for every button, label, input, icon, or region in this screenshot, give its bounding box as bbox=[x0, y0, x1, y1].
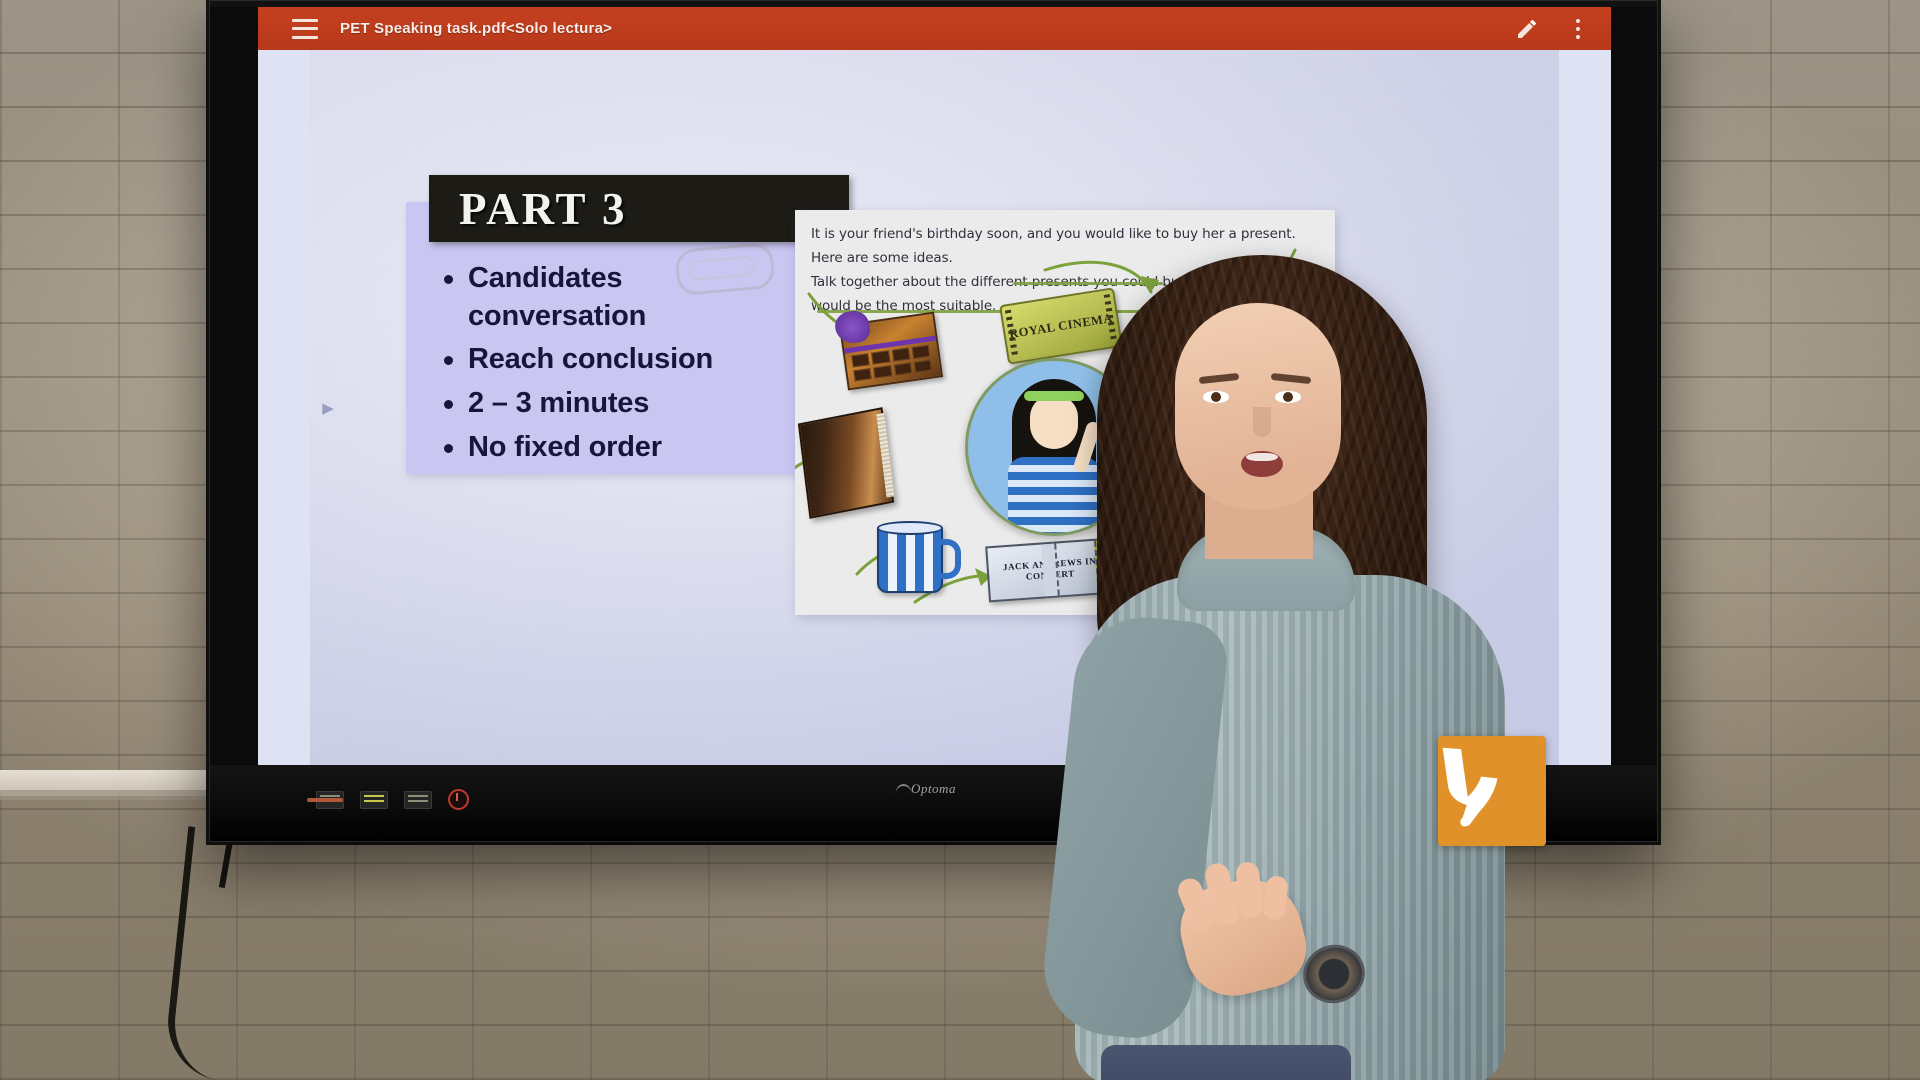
source-button[interactable] bbox=[316, 791, 344, 809]
bullet-list: Candidates conversation Reach conclusion… bbox=[438, 260, 798, 472]
app-title-bar: PET Speaking task.pdf<Solo lectura> bbox=[258, 7, 1611, 50]
display-controls bbox=[316, 789, 469, 810]
menu-button[interactable] bbox=[360, 791, 388, 809]
eyebrow bbox=[1271, 373, 1312, 384]
mug-image bbox=[877, 525, 943, 593]
book-image bbox=[798, 407, 894, 519]
list-item: 2 – 3 minutes bbox=[438, 385, 798, 423]
eye bbox=[1275, 391, 1301, 403]
finger bbox=[1262, 875, 1288, 921]
hamburger-icon[interactable] bbox=[292, 19, 318, 39]
task-line: It is your friend's birthday soon, and y… bbox=[811, 222, 1316, 246]
two-hands-logo bbox=[1438, 736, 1546, 846]
page-title: PART 3 bbox=[429, 175, 849, 242]
power-button[interactable] bbox=[448, 789, 469, 810]
chocolates-image bbox=[839, 312, 943, 391]
document-title: PET Speaking task.pdf<Solo lectura> bbox=[340, 20, 612, 37]
eyebrow bbox=[1199, 373, 1240, 384]
titlebar-actions bbox=[1515, 16, 1597, 42]
eye bbox=[1203, 391, 1229, 403]
display-brand: Optoma bbox=[911, 781, 956, 797]
nose bbox=[1253, 407, 1271, 437]
part-title-text: PART 3 bbox=[459, 183, 628, 235]
mouth bbox=[1241, 451, 1283, 477]
presenter bbox=[1035, 245, 1595, 1080]
chevron-right-icon[interactable]: ▶ bbox=[318, 395, 338, 421]
chocolates-grid bbox=[851, 345, 932, 382]
input-button[interactable] bbox=[404, 791, 432, 809]
jeans bbox=[1101, 1045, 1351, 1080]
skirting-board-shadow bbox=[0, 790, 215, 800]
list-item: No fixed order bbox=[438, 429, 798, 467]
room-scene: PET Speaking task.pdf<Solo lectura> ▶ bbox=[0, 0, 1920, 1080]
pencil-icon[interactable] bbox=[1515, 17, 1539, 41]
two-hands-logo-icon bbox=[1438, 736, 1546, 846]
kebab-menu-icon[interactable] bbox=[1573, 16, 1583, 42]
list-item: Candidates conversation bbox=[438, 260, 798, 335]
list-item: Reach conclusion bbox=[438, 341, 798, 379]
face bbox=[1175, 303, 1341, 509]
